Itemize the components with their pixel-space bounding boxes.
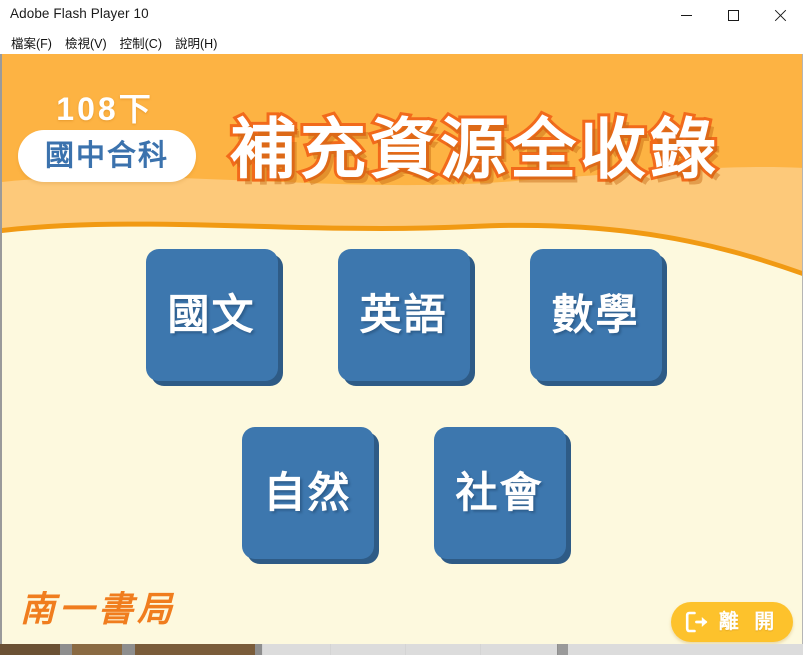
menu-item-control[interactable]: 控制(C)	[116, 31, 171, 54]
term-badge-group: 108下 國中合科	[10, 84, 200, 209]
menu-item-help[interactable]: 說明(H)	[171, 31, 226, 54]
close-button[interactable]	[757, 0, 803, 30]
subject-label: 自然	[263, 472, 351, 514]
subject-button-science[interactable]: 自然	[242, 427, 374, 559]
background-window-fragment	[262, 644, 557, 655]
subject-grid: 國文 英語 數學 自然 社會	[2, 249, 803, 559]
page-title: 補充資源全收錄	[230, 116, 720, 182]
flash-stage: 108下 國中合科 補充資源全收錄 國文 英語 數學	[0, 54, 803, 644]
window-title: Adobe Flash Player 10	[10, 6, 149, 21]
minimize-icon	[681, 15, 692, 16]
publisher-logo: 南一書局	[20, 592, 176, 627]
close-icon	[774, 9, 786, 21]
background-desktop-sliver	[0, 644, 803, 655]
stage-content: 108下 國中合科 補充資源全收錄 國文 英語 數學	[2, 54, 803, 644]
subject-row-1: 國文 英語 數學	[2, 249, 803, 381]
menu-item-file[interactable]: 檔案(F)	[7, 31, 61, 54]
background-window-fragment	[558, 644, 803, 655]
subject-label: 英語	[359, 294, 447, 336]
subject-label: 社會	[455, 472, 543, 514]
exit-button-label: 離 開	[719, 612, 780, 632]
desktop-wallpaper-fragment	[135, 644, 255, 655]
exit-arrow-icon	[685, 611, 710, 633]
grade-badge-label: 國中合科	[45, 142, 169, 171]
background-window-divider	[262, 644, 263, 655]
flash-player-window: Adobe Flash Player 10 檔案(F) 檢視(V) 控制(C) …	[0, 0, 803, 655]
maximize-icon	[728, 10, 739, 21]
maximize-button[interactable]	[710, 0, 756, 30]
subject-label: 數學	[551, 294, 639, 336]
subject-button-math[interactable]: 數學	[530, 249, 662, 381]
desktop-wallpaper-fragment	[72, 644, 122, 655]
desktop-wallpaper-fragment	[0, 644, 60, 655]
grade-badge: 國中合科	[18, 130, 196, 182]
menu-item-view[interactable]: 檢視(V)	[61, 31, 116, 54]
subject-button-chinese[interactable]: 國文	[146, 249, 278, 381]
background-window-divider	[405, 644, 406, 655]
exit-button[interactable]: 離 開	[671, 602, 793, 642]
minimize-button[interactable]	[663, 0, 709, 30]
subject-button-social[interactable]: 社會	[434, 427, 566, 559]
subject-row-2: 自然 社會	[2, 427, 803, 559]
menu-bar: 檔案(F) 檢視(V) 控制(C) 說明(H)	[0, 30, 803, 54]
background-window-divider	[480, 644, 481, 655]
subject-button-english[interactable]: 英語	[338, 249, 470, 381]
term-label: 108下	[10, 84, 200, 130]
background-window-divider	[330, 644, 331, 655]
background-window-edge	[558, 644, 568, 655]
title-bar[interactable]: Adobe Flash Player 10	[0, 0, 803, 30]
subject-label: 國文	[167, 294, 255, 336]
